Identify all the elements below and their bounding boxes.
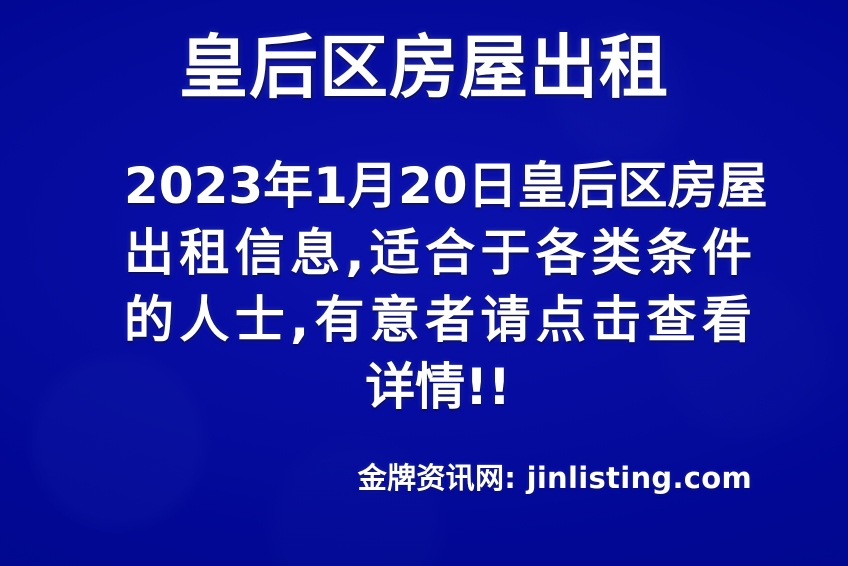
rental-ad-poster: 皇后区房屋出租 2023年1月20日皇后区房屋 出租信息,适合于各类条件 的人士…	[0, 0, 848, 566]
poster-footer-source: 金牌资讯网: jinlisting.com	[124, 455, 752, 497]
body-line-4: 详情!!	[124, 354, 752, 421]
poster-content: 皇后区房屋出租 2023年1月20日皇后区房屋 出租信息,适合于各类条件 的人士…	[0, 0, 848, 566]
body-line-1: 2023年1月20日皇后区房屋	[124, 153, 752, 220]
poster-headline: 皇后区房屋出租	[0, 31, 848, 106]
body-line-2: 出租信息,适合于各类条件	[124, 220, 752, 287]
poster-body-text: 2023年1月20日皇后区房屋 出租信息,适合于各类条件 的人士,有意者请点击查…	[124, 153, 752, 421]
body-line-3: 的人士,有意者请点击查看	[124, 287, 752, 354]
